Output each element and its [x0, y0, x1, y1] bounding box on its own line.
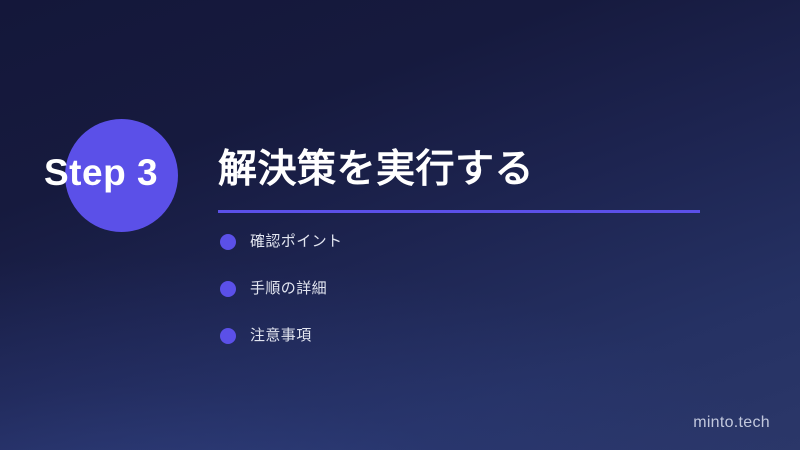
title-divider — [218, 210, 700, 213]
page-title: 解決策を実行する — [218, 145, 534, 195]
list-item: 手順の詳細 — [220, 279, 342, 298]
step-label: Step 3 — [44, 150, 214, 196]
slide-canvas: Step 3 解決策を実行する 確認ポイント 手順の詳細 注意事項 minto.… — [0, 0, 800, 450]
bullet-dot-icon — [220, 234, 236, 250]
list-item-label: 確認ポイント — [250, 232, 342, 251]
footer-brand: minto.tech — [693, 414, 770, 432]
bullet-list: 確認ポイント 手順の詳細 注意事項 — [220, 232, 342, 373]
list-item-label: 注意事項 — [250, 326, 312, 345]
list-item: 確認ポイント — [220, 232, 342, 251]
list-item-label: 手順の詳細 — [250, 279, 327, 298]
bullet-dot-icon — [220, 281, 236, 297]
bullet-dot-icon — [220, 328, 236, 344]
list-item: 注意事項 — [220, 326, 342, 345]
